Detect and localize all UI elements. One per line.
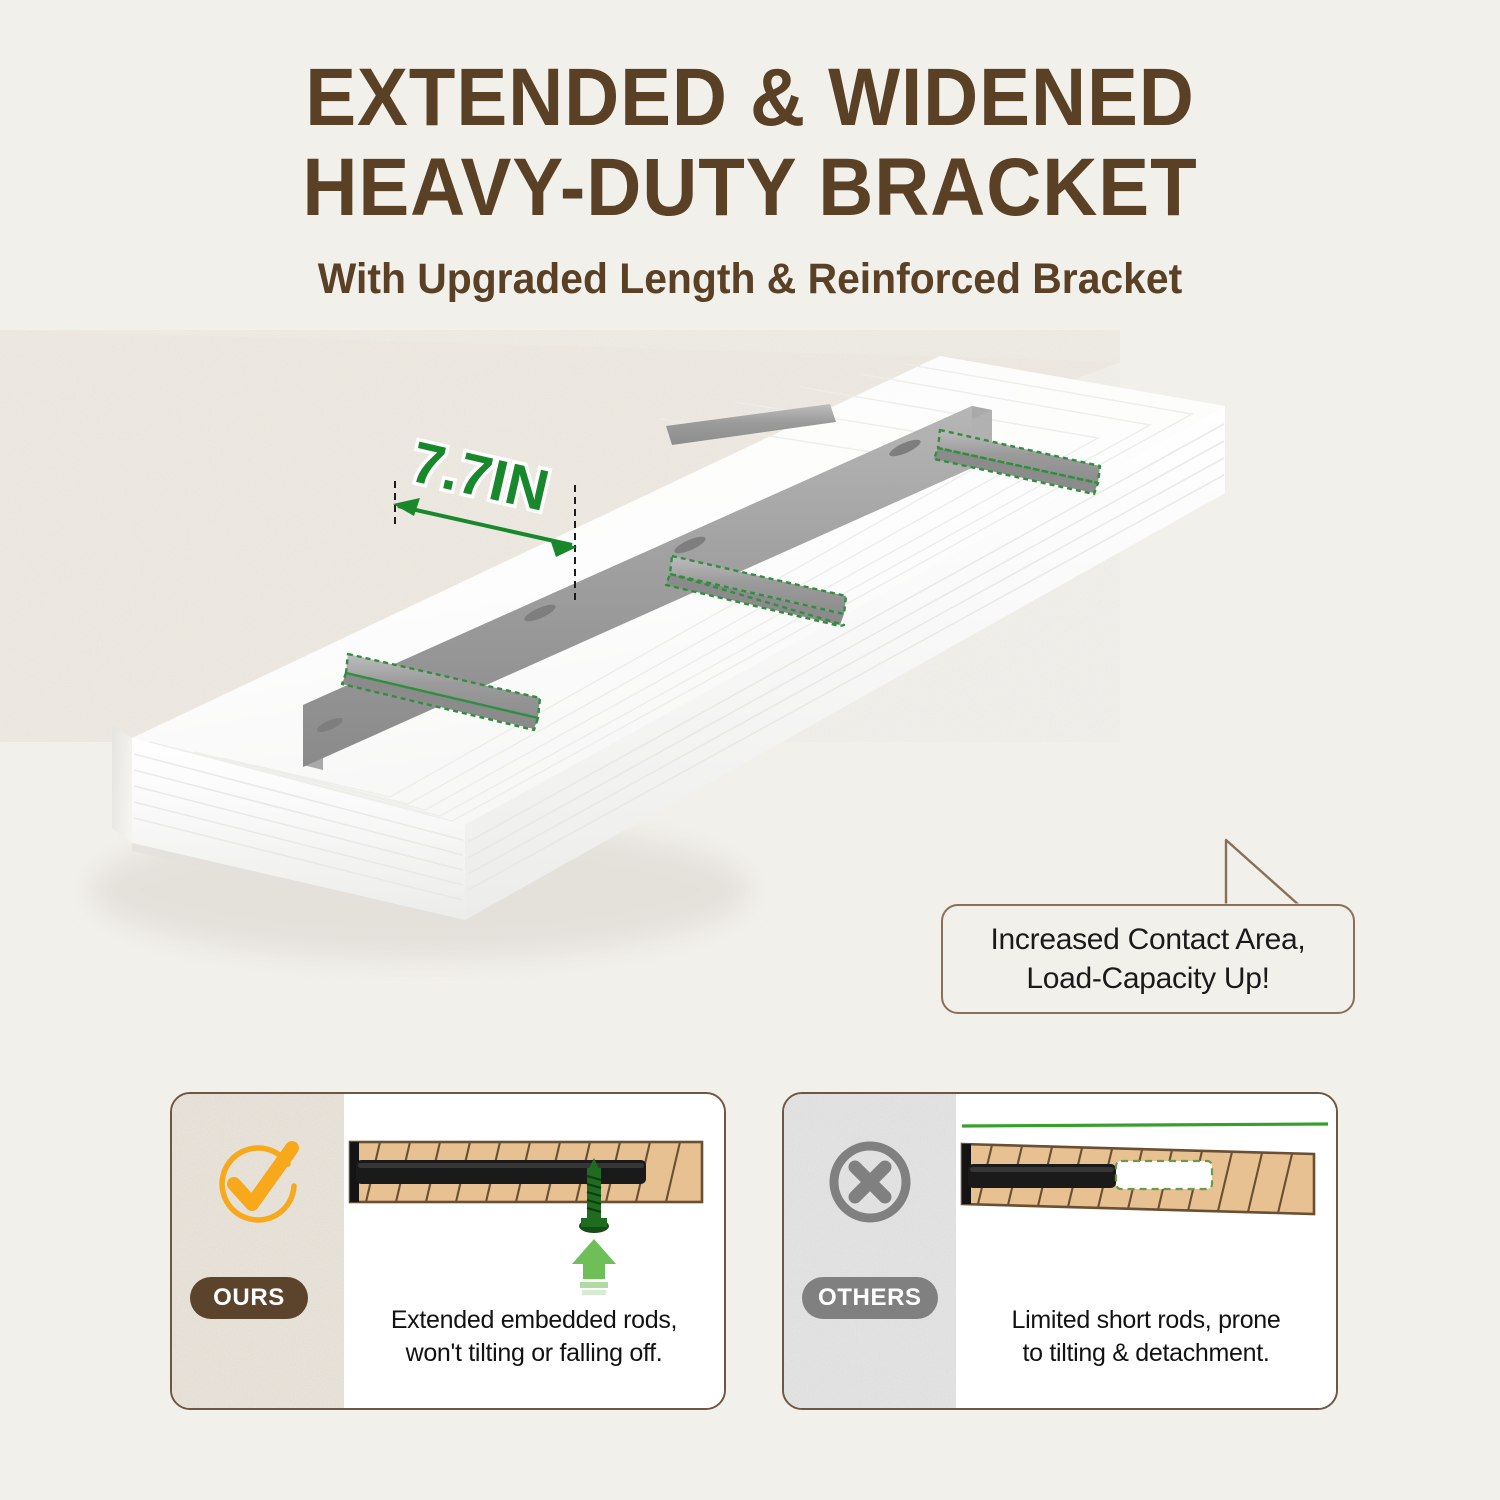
check-circle-icon bbox=[210, 1134, 306, 1230]
others-empty-cavity bbox=[1116, 1161, 1212, 1189]
ours-caption-line-1: Extended embedded rods, bbox=[344, 1304, 724, 1337]
ours-force-arrow-icon bbox=[572, 1239, 616, 1295]
ours-rod-diagram bbox=[344, 1098, 726, 1298]
page-title-line-2: HEAVY-DUTY BRACKET bbox=[53, 148, 1448, 228]
ours-left-column: OURS bbox=[172, 1094, 344, 1408]
comparison-section: OURS bbox=[0, 1092, 1500, 1422]
callout-line-2: Load-Capacity Up! bbox=[1026, 959, 1269, 998]
x-circle-icon bbox=[822, 1134, 918, 1230]
others-badge-label: OTHERS bbox=[818, 1284, 922, 1312]
ours-caption-line-2: won't tilting or falling off. bbox=[344, 1337, 724, 1370]
ours-caption: Extended embedded rods, won't tilting or… bbox=[344, 1304, 724, 1369]
shelf-left-end bbox=[112, 726, 132, 843]
comparison-panel-ours: OURS bbox=[170, 1092, 726, 1410]
others-caption-line-1: Limited short rods, prone bbox=[956, 1304, 1336, 1337]
others-rod-diagram bbox=[956, 1098, 1338, 1298]
others-left-column: OTHERS bbox=[784, 1094, 956, 1408]
ours-right-column: Extended embedded rods, won't tilting or… bbox=[344, 1094, 724, 1408]
page-title-line-1: EXTENDED & WIDENED bbox=[53, 58, 1448, 138]
others-caption-line-2: to tilting & detachment. bbox=[956, 1337, 1336, 1370]
others-caption: Limited short rods, prone to tilting & d… bbox=[956, 1304, 1336, 1369]
page-subtitle: With Upgraded Length & Reinforced Bracke… bbox=[38, 255, 1463, 304]
comparison-panel-others: OTHERS bbox=[782, 1092, 1338, 1410]
callout-bubble: Increased Contact Area, Load-Capacity Up… bbox=[941, 904, 1355, 1014]
others-right-column: Limited short rods, prone to tilting & d… bbox=[956, 1094, 1336, 1408]
others-level-reference-line bbox=[962, 1124, 1328, 1126]
others-badge: OTHERS bbox=[802, 1277, 938, 1319]
ours-badge-label: OURS bbox=[213, 1284, 285, 1312]
ours-badge: OURS bbox=[190, 1277, 308, 1319]
header: EXTENDED & WIDENED HEAVY-DUTY BRACKET Wi… bbox=[0, 58, 1500, 304]
infographic-stage: EXTENDED & WIDENED HEAVY-DUTY BRACKET Wi… bbox=[0, 0, 1500, 1500]
callout-line-1: Increased Contact Area, bbox=[991, 920, 1306, 959]
